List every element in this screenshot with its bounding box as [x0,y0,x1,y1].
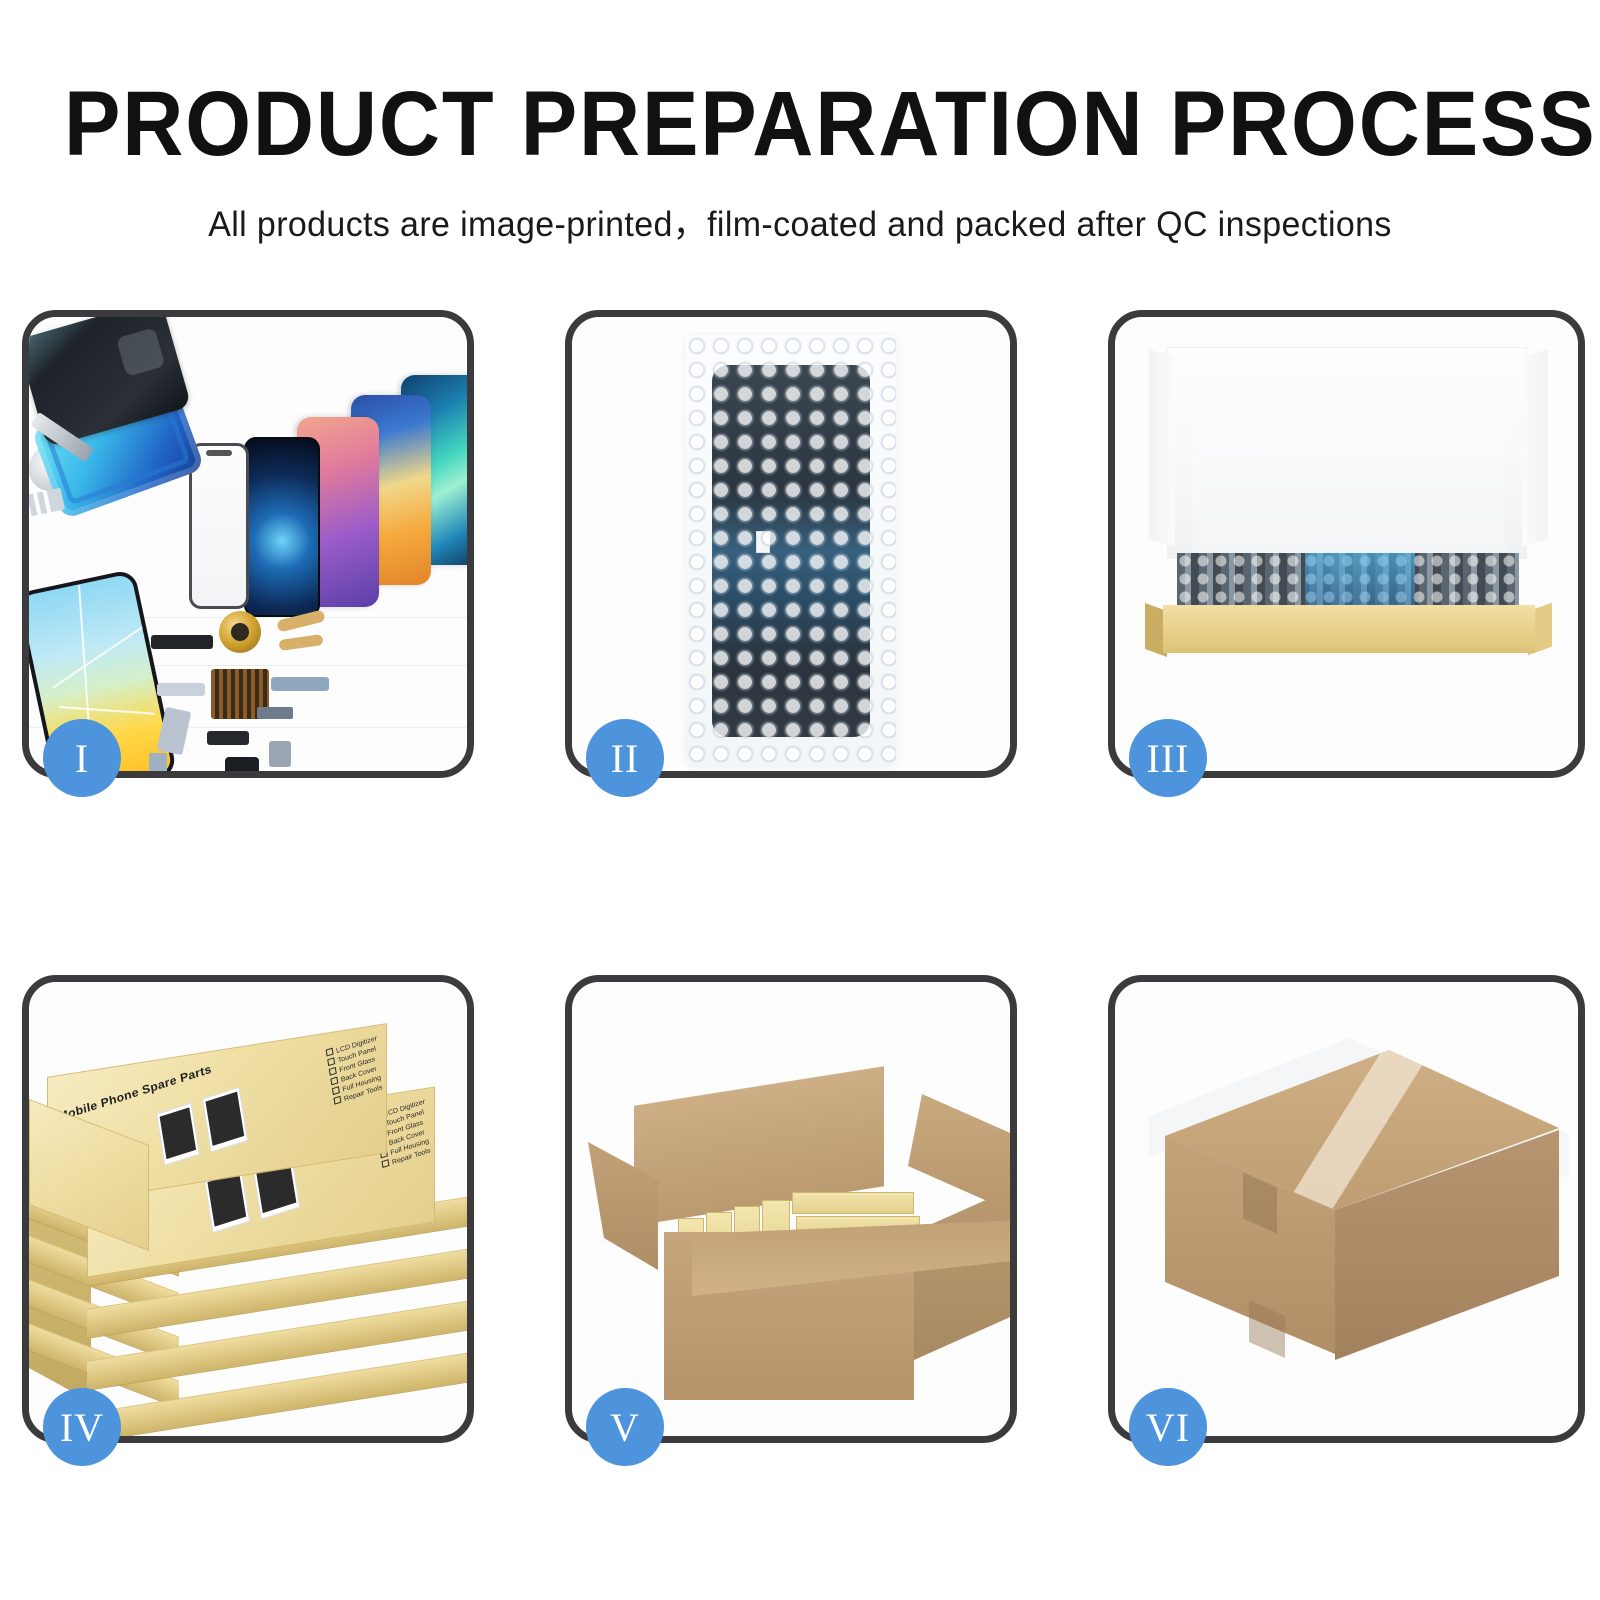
button-set-part [257,707,293,719]
step-1-image [29,317,467,771]
process-step-grid: I II [0,0,1600,1600]
step-badge-5: V [586,1388,664,1466]
product-blue-highlight [1305,553,1415,607]
step-3-image [1115,317,1578,771]
vibration-coil-part [219,611,261,653]
box-phone-image-d [202,1087,248,1153]
open-shipping-carton [572,982,1010,1436]
step-panel-5[interactable]: V [565,975,1017,1443]
sim-tray-part [149,753,167,771]
camera-module-part [225,757,259,771]
infographic-page: PRODUCT PREPARATION PROCESS All products… [0,0,1600,1600]
step-panel-1[interactable]: I [22,310,474,778]
box-base-front [1163,605,1535,653]
step-2-image [572,317,1010,771]
phone-cracked-black [244,437,320,617]
inner-box-scene [1115,317,1578,771]
step-badge-4: IV [43,1388,121,1466]
step-4-image: Mobile Phone Spare Parts LCD Digitizer T… [29,982,467,1436]
box-lid-left-flap [1149,349,1175,546]
carton-right-flap [908,1094,1010,1212]
speaker-part [151,635,213,649]
flex-cable-part-4 [157,683,205,696]
step-panel-4[interactable]: Mobile Phone Spare Parts LCD Digitizer T… [22,975,474,1443]
box-lid-right-flap [1522,349,1548,546]
retail-box-stack: Mobile Phone Spare Parts LCD Digitizer T… [29,982,467,1436]
step-5-image [572,982,1010,1436]
bubble-wrap-bag [686,335,896,767]
sealed-shipping-carton [1115,982,1578,1436]
box-phone-image-c [156,1103,200,1166]
screws-part [29,488,65,517]
step-badge-2: II [586,719,664,797]
step-badge-3: III [1129,719,1207,797]
carton-right-side [914,1182,1010,1360]
flex-cable-part-2 [278,634,323,651]
foam-insert [1193,425,1505,553]
connector-part [207,731,249,745]
step-badge-1: I [43,719,121,797]
retail-box-checklist-1: LCD Digitizer Touch Panel Front Glass Ba… [325,1034,385,1107]
earpiece-part [269,741,291,767]
step-panel-3[interactable]: III [1108,310,1585,778]
step-6-image [1115,982,1578,1436]
flex-cable-part-3 [271,677,329,691]
step-badge-6: VI [1129,1388,1207,1466]
step-panel-2[interactable]: II [565,310,1017,778]
step-panel-6[interactable]: VI [1108,975,1585,1443]
